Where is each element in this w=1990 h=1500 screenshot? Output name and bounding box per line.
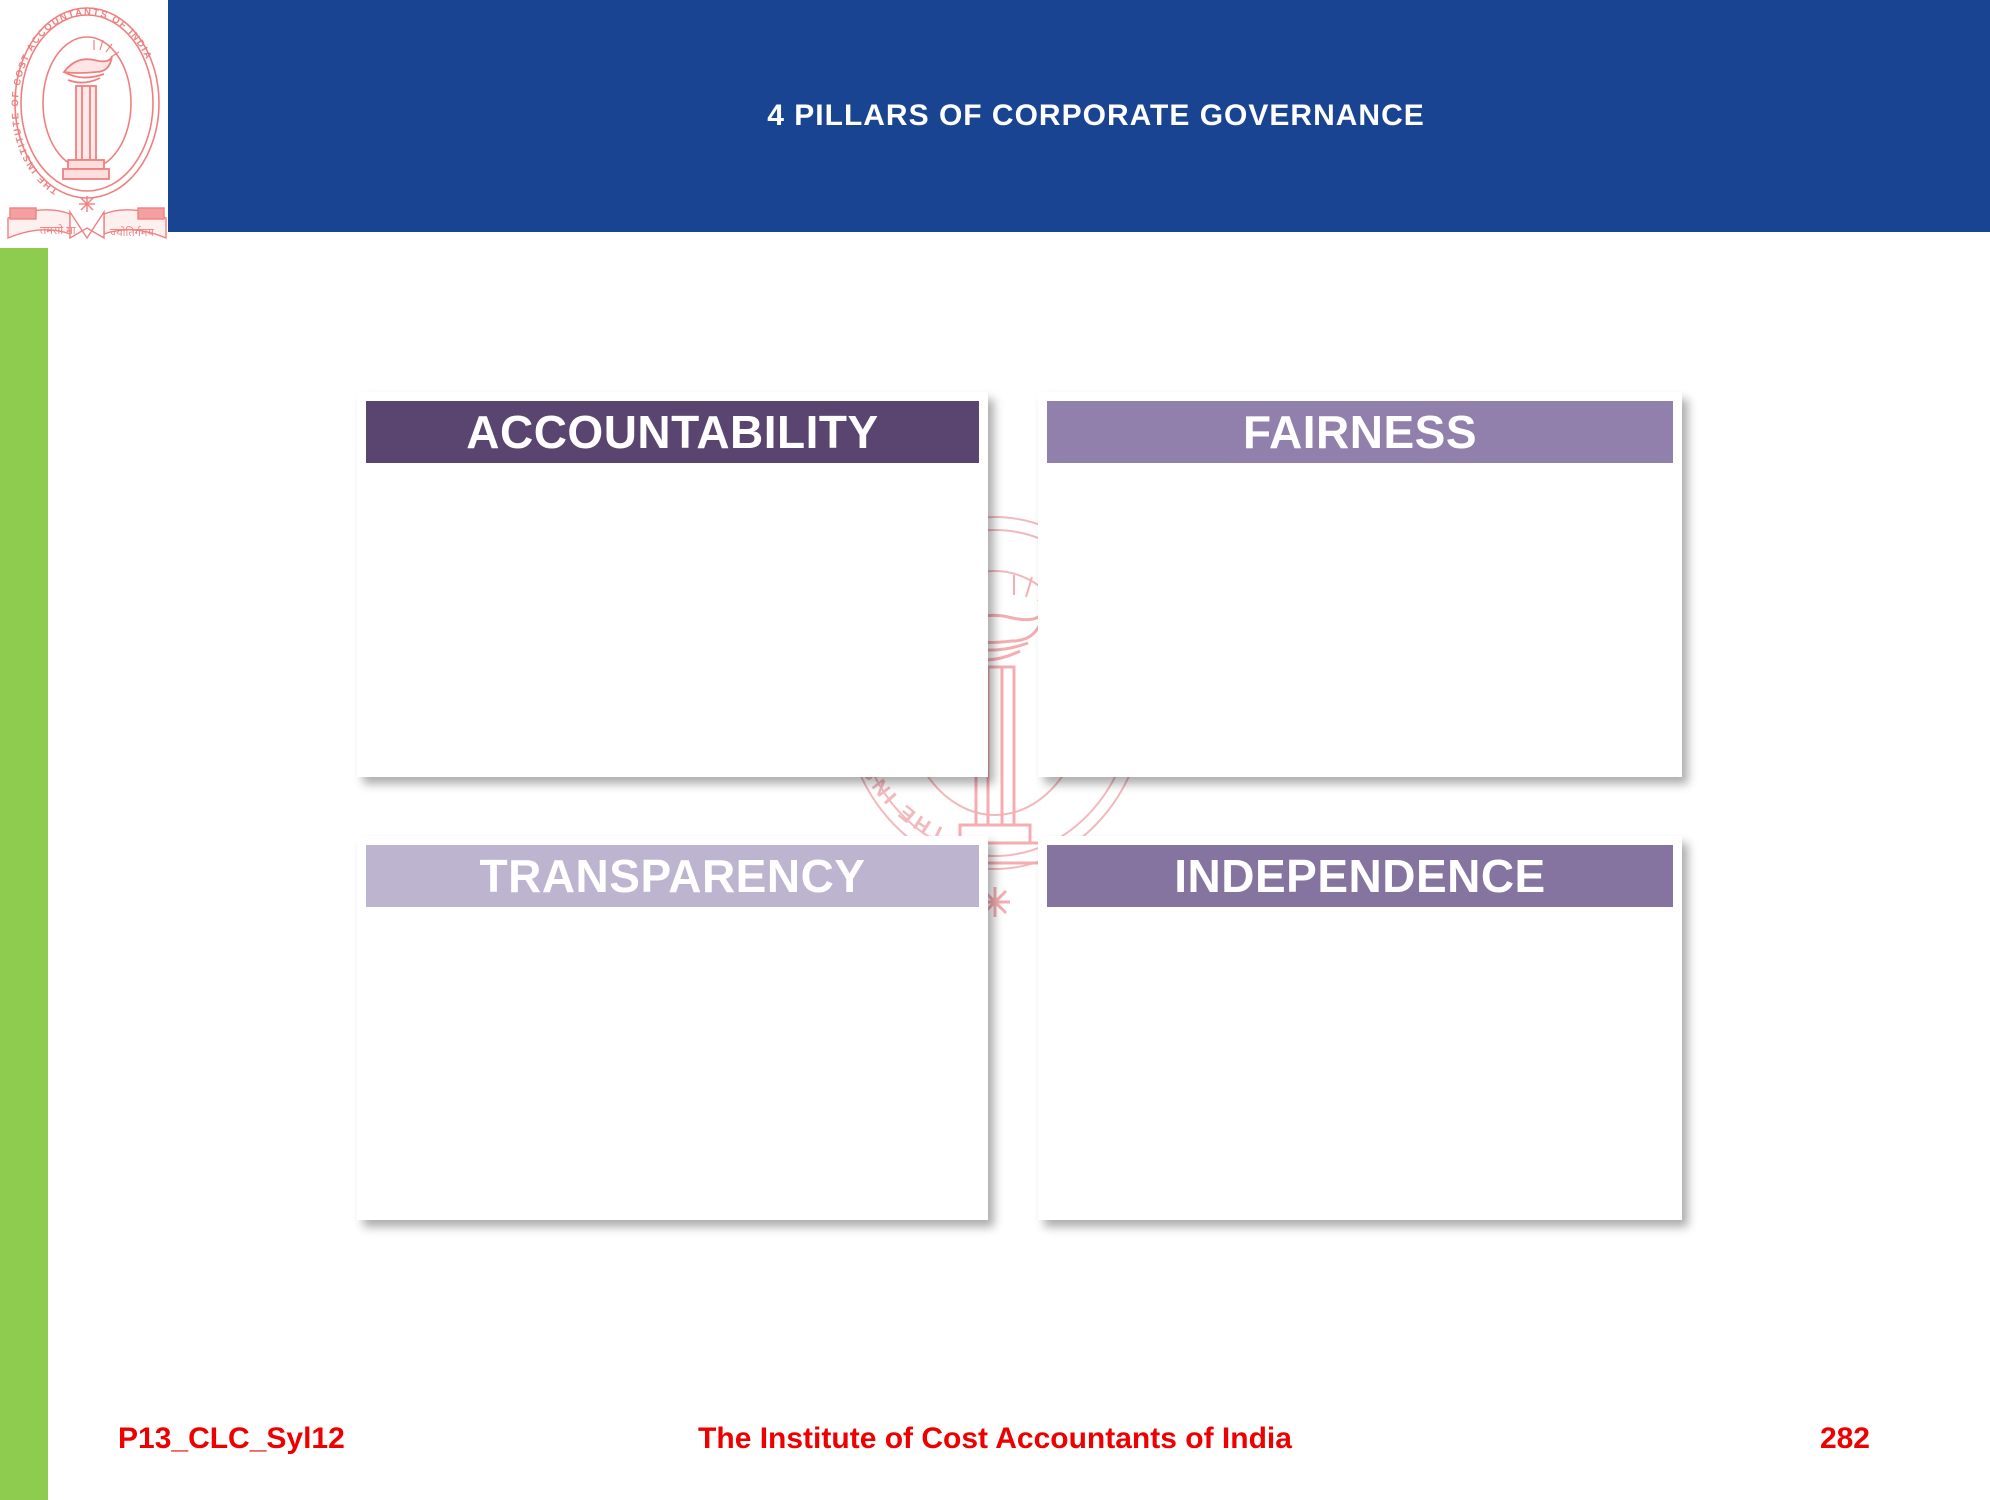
slide-canvas: 4 PILLARS OF CORPORATE GOVERNANCE THE IN… xyxy=(0,0,1990,1500)
pillar-label-fairness: FAIRNESS xyxy=(1243,409,1477,455)
pillar-box-fairness[interactable]: FAIRNESS xyxy=(1038,392,1682,777)
pillar-header-transparency: TRANSPARENCY xyxy=(366,845,979,907)
pillar-box-independence[interactable]: INDEPENDENCE xyxy=(1038,836,1682,1220)
pillar-label-independence: INDEPENDENCE xyxy=(1174,853,1546,899)
pillar-header-independence: INDEPENDENCE xyxy=(1047,845,1673,907)
pillar-label-transparency: TRANSPARENCY xyxy=(480,853,866,899)
pillar-box-transparency[interactable]: TRANSPARENCY xyxy=(357,836,988,1220)
footer-page-number: 282 xyxy=(1820,1424,1870,1454)
pillars-grid: ACCOUNTABILITY FAIRNESS TRANSPARENCY IND… xyxy=(0,0,1990,1500)
pillar-label-accountability: ACCOUNTABILITY xyxy=(466,409,878,455)
pillar-header-fairness: FAIRNESS xyxy=(1047,401,1673,463)
pillar-box-accountability[interactable]: ACCOUNTABILITY xyxy=(357,392,988,777)
footer-institute-name: The Institute of Cost Accountants of Ind… xyxy=(0,1424,1990,1454)
slide-footer: P13_CLC_Syl12 The Institute of Cost Acco… xyxy=(0,1418,1990,1478)
pillar-header-accountability: ACCOUNTABILITY xyxy=(366,401,979,463)
